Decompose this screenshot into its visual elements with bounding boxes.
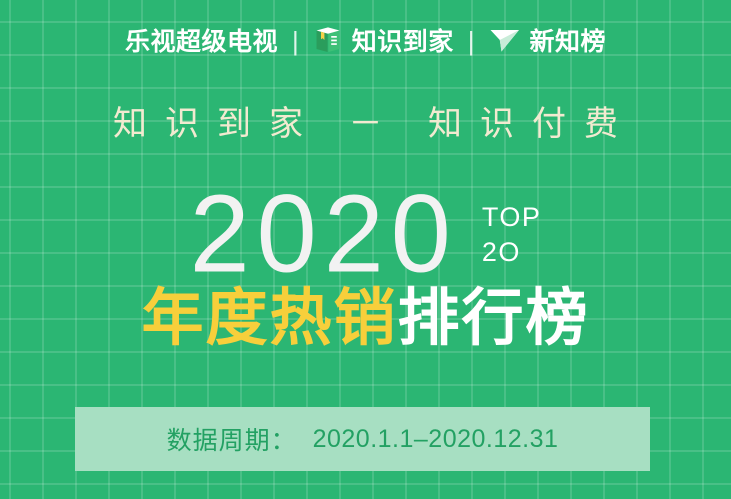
brand-zhishidaojia-label: 知识到家 xyxy=(352,30,454,55)
brand-leshi-label: 乐视超级电视 xyxy=(125,30,278,55)
year-number: 2020 xyxy=(190,185,458,282)
open-book-icon xyxy=(313,25,343,60)
data-period-bar: 数据周期： 2020.1.1–2020.12.31 xyxy=(75,407,650,471)
data-period-label: 数据周期： xyxy=(167,421,297,457)
poster-subtitle: 知识到家 － 知识付费 xyxy=(0,104,731,145)
brand-xinzhibang-group: 新知榜 xyxy=(489,25,607,60)
brand-zhishidaojia-group: 知识到家 xyxy=(313,25,454,60)
brand-xinzhibang-label: 新知榜 xyxy=(530,30,607,55)
data-period-value: 2020.1.1–2020.12.31 xyxy=(313,425,559,454)
headline-highlight: 年度热销 xyxy=(141,284,397,353)
brand-header: 乐视超级电视 | 知识到家 | xyxy=(0,24,731,60)
year-block: 2020 TOP 2O xyxy=(0,186,731,281)
headline-rest: 排行榜 xyxy=(398,284,590,353)
top-rank-badge: TOP 2O xyxy=(482,200,542,269)
brand-separator-2: | xyxy=(468,28,475,54)
brand-separator-1: | xyxy=(292,28,299,54)
poster-canvas: 乐视超级电视 | 知识到家 | xyxy=(0,0,731,499)
page-title: 年度热销排行榜 xyxy=(0,283,731,354)
paper-plane-icon xyxy=(489,25,521,60)
top-rank-value: 2O xyxy=(482,235,542,270)
top-label: TOP xyxy=(482,200,542,235)
